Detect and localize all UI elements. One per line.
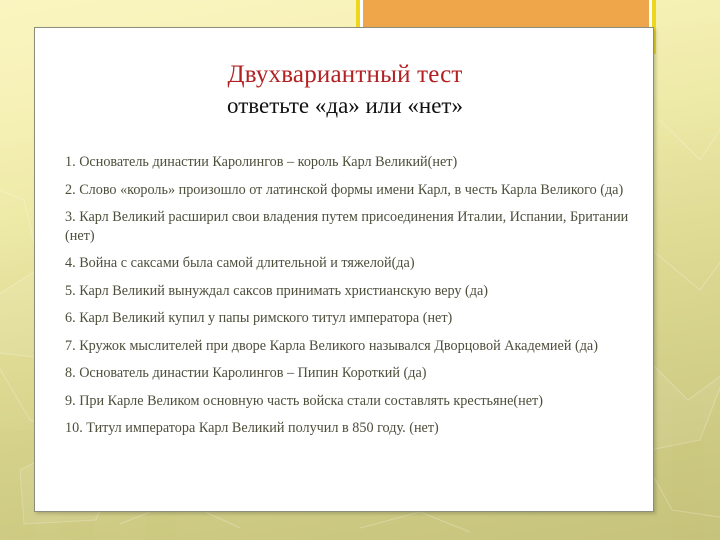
question-item: 4. Война с саксами была самой длительной… [65,254,643,273]
question-item: 9. При Карле Великом основную часть войс… [65,392,643,411]
slide-title-primary: Двухвариантный тест [35,60,655,90]
question-item: 1. Основатель династии Каролингов – коро… [65,153,643,172]
question-item: 3. Карл Великий расширил свои владения п… [65,208,643,245]
content-card: Двухвариантный тест ответьте «да» или «н… [34,27,654,512]
slide: Двухвариантный тест ответьте «да» или «н… [0,0,720,540]
slide-title-secondary: ответьте «да» или «нет» [35,90,655,122]
question-item: 7. Кружок мыслителей при дворе Карла Вел… [65,337,643,356]
question-item: 5. Карл Великий вынуждал саксов принимат… [65,282,643,301]
question-item: 2. Слово «король» произошло от латинской… [65,181,643,200]
title-block: Двухвариантный тест ответьте «да» или «н… [35,60,655,122]
question-item: 8. Основатель династии Каролингов – Пипи… [65,364,643,383]
question-item: 6. Карл Великий купил у папы римского ти… [65,309,643,328]
question-list: 1. Основатель династии Каролингов – коро… [65,153,643,438]
question-item: 10. Титул императора Карл Великий получи… [65,419,643,438]
